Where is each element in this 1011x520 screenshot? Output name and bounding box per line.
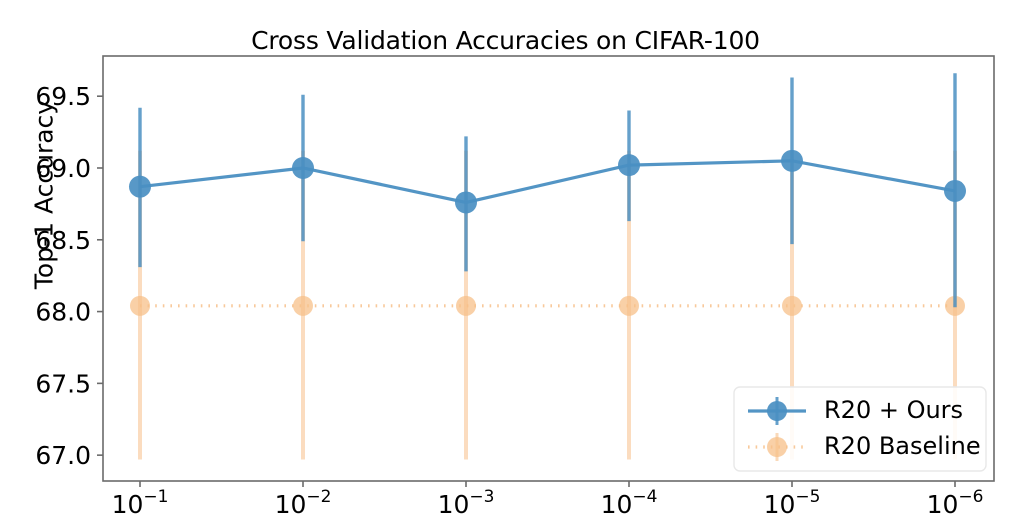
data-point-marker — [618, 154, 640, 176]
data-point-marker — [129, 176, 151, 198]
data-point-marker — [292, 157, 314, 179]
legend-label: R20 + Ours — [824, 396, 963, 424]
x-tick-label: 10−3 — [438, 487, 495, 519]
x-tick-label: 10−4 — [601, 487, 658, 519]
y-tick-label: 68.5 — [35, 226, 91, 255]
data-point-marker — [456, 296, 476, 316]
chart-legend: R20 + OursR20 Baseline — [734, 387, 986, 471]
y-tick-label: 67.0 — [35, 441, 91, 470]
ours-marker-group — [129, 150, 966, 214]
chart-page: Cross Validation Accuracies on CIFAR-100… — [0, 0, 1011, 520]
x-tick-label: 10−1 — [112, 487, 169, 519]
y-tick-label: 69.5 — [35, 82, 91, 111]
data-point-marker — [782, 296, 802, 316]
ours-errorbar-group — [140, 73, 955, 307]
y-tick-label: 68.0 — [35, 298, 91, 327]
x-tick-group: 10−110−210−310−410−510−6 — [112, 481, 984, 519]
data-point-marker — [781, 150, 803, 172]
data-point-marker — [130, 296, 150, 316]
data-point-marker — [455, 191, 477, 213]
data-point-marker — [944, 180, 966, 202]
legend-label: R20 Baseline — [824, 432, 981, 460]
series-line — [140, 161, 955, 203]
legend-marker-sample — [767, 437, 787, 457]
x-tick-label: 10−5 — [764, 487, 821, 519]
ours-line-group — [140, 161, 955, 203]
y-tick-label: 69.0 — [35, 154, 91, 183]
y-tick-label: 67.5 — [35, 369, 91, 398]
x-tick-label: 10−2 — [275, 487, 332, 519]
legend-marker-sample — [767, 401, 787, 421]
plot-area: 67.067.568.068.569.069.5 10−110−210−310−… — [0, 0, 1011, 520]
data-point-marker — [619, 296, 639, 316]
data-point-marker — [293, 296, 313, 316]
y-tick-group: 67.067.568.068.569.069.5 — [35, 82, 103, 470]
x-tick-label: 10−6 — [927, 487, 984, 519]
